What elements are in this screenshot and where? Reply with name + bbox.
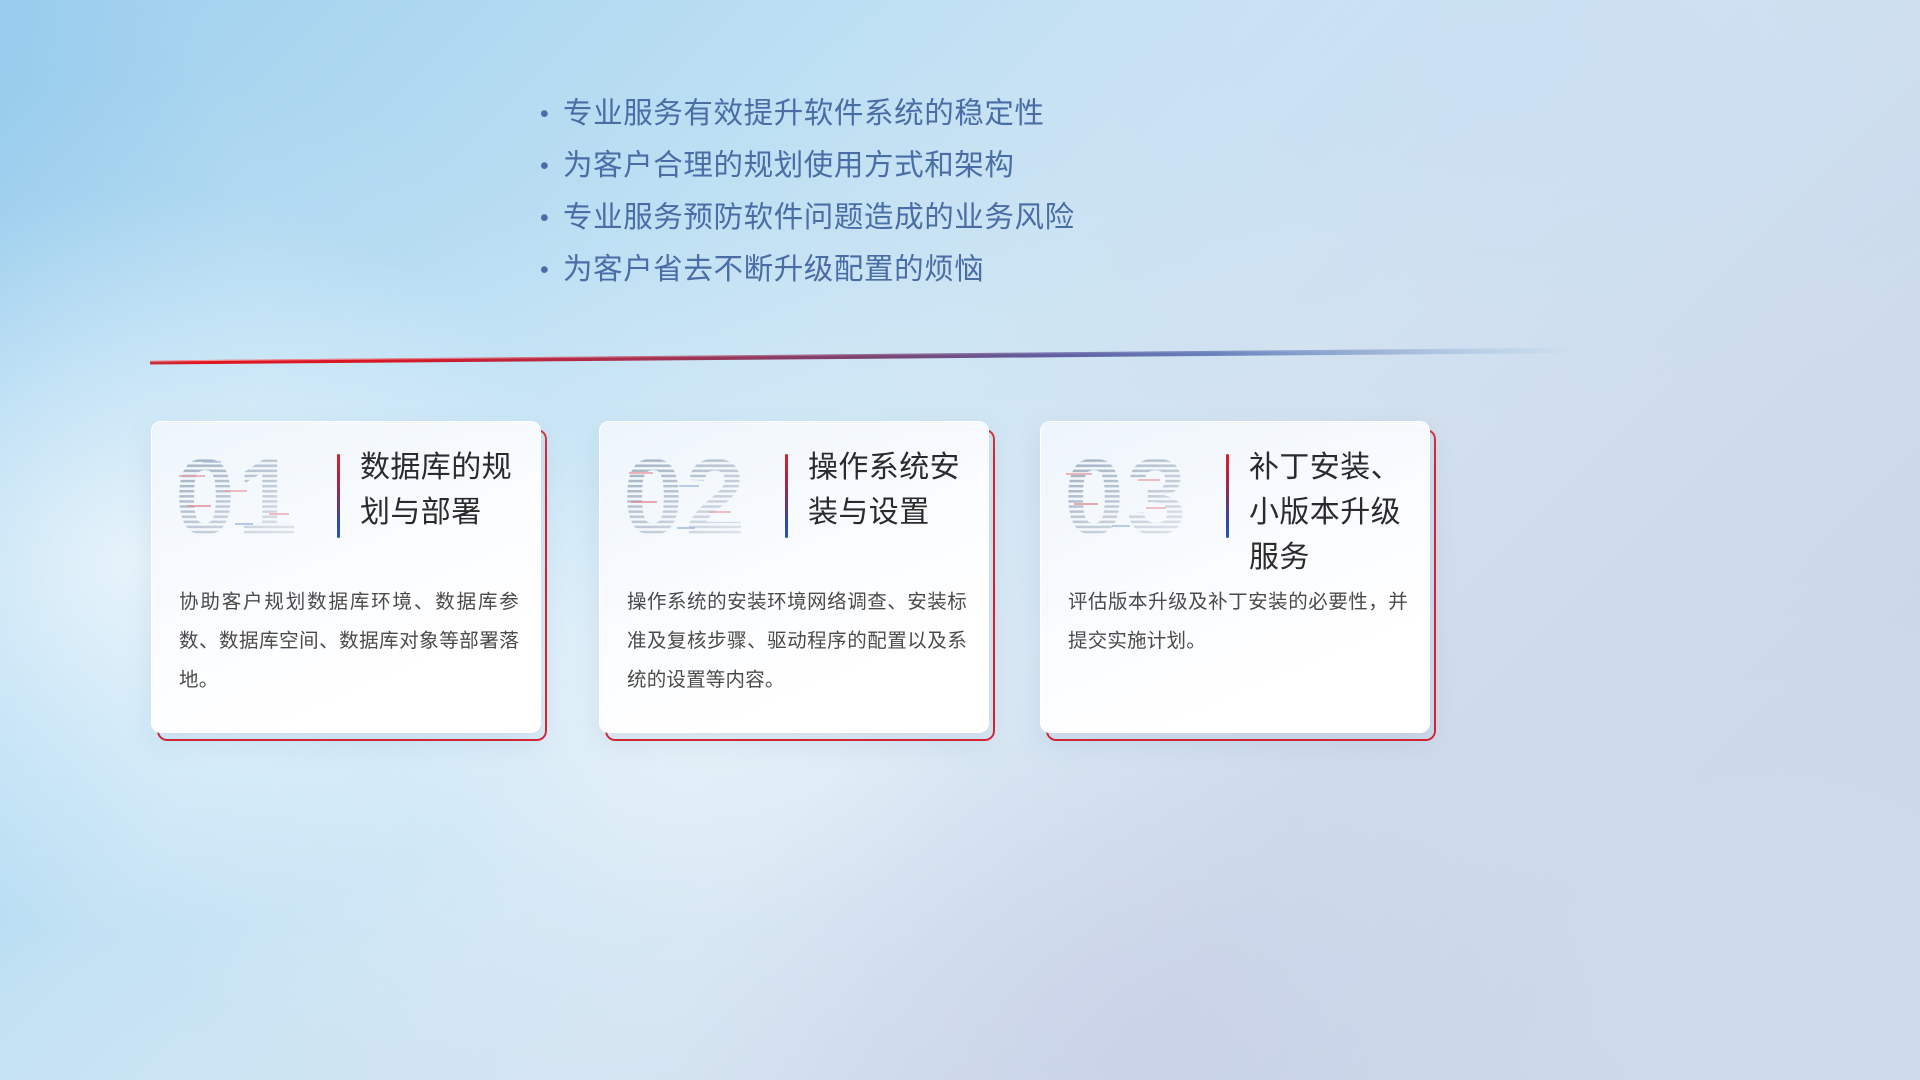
- card-accent-rule: [1226, 454, 1229, 538]
- slide-canvas: • 专业服务有效提升软件系统的稳定性 • 为客户合理的规划使用方式和架构 • 专…: [0, 0, 1920, 1080]
- bullet-item: • 为客户合理的规划使用方式和架构: [533, 140, 1293, 192]
- card-surface: 03 补丁安装、小版本升级服务 评估版本升级及补丁安装的必要性，并提交实施计划。: [1040, 421, 1430, 733]
- benefits-bullet-list: • 专业服务有效提升软件系统的稳定性 • 为客户合理的规划使用方式和架构 • 专…: [533, 88, 1293, 296]
- svg-text:02: 02: [623, 439, 747, 555]
- card-header: 01 数据库的规划与部署: [151, 421, 541, 569]
- bullet-dot-icon: •: [533, 244, 563, 296]
- card-number-watermark: 01: [173, 439, 317, 555]
- section-divider: [150, 338, 1586, 366]
- bullet-label: 为客户省去不断升级配置的烦恼: [563, 244, 984, 296]
- bullet-label: 专业服务有效提升软件系统的稳定性: [563, 88, 1045, 140]
- bullet-item: • 为客户省去不断升级配置的烦恼: [533, 244, 1293, 296]
- bullet-label: 专业服务预防软件问题造成的业务风险: [563, 192, 1075, 244]
- svg-text:01: 01: [175, 439, 299, 555]
- card-accent-rule: [785, 454, 788, 538]
- card-title: 数据库的规划与部署: [360, 445, 532, 535]
- bullet-dot-icon: •: [533, 88, 563, 140]
- card-title: 补丁安装、小版本升级服务: [1249, 445, 1421, 580]
- card-surface: 01 数据库的规划与部署 协助客户规划数据库环境、数据库参数、数据库空间、数据库…: [151, 421, 541, 733]
- bullet-dot-icon: •: [533, 192, 563, 244]
- card-title: 操作系统安装与设置: [808, 445, 980, 535]
- svg-text:03: 03: [1064, 439, 1188, 555]
- card-surface: 02 操作系统安装与设置 操作系统的安装环境网络调查、安装标准及复核步骤、驱动程…: [599, 421, 989, 733]
- service-card-list: 01 数据库的规划与部署 协助客户规划数据库环境、数据库参数、数据库空间、数据库…: [151, 421, 1771, 751]
- bullet-dot-icon: •: [533, 140, 563, 192]
- service-card[interactable]: 01 数据库的规划与部署 协助客户规划数据库环境、数据库参数、数据库空间、数据库…: [151, 421, 541, 733]
- card-number-watermark: 02: [621, 439, 765, 555]
- service-card[interactable]: 03 补丁安装、小版本升级服务 评估版本升级及补丁安装的必要性，并提交实施计划。: [1040, 421, 1430, 733]
- bullet-item: • 专业服务预防软件问题造成的业务风险: [533, 192, 1293, 244]
- card-accent-rule: [337, 454, 340, 538]
- service-card[interactable]: 02 操作系统安装与设置 操作系统的安装环境网络调查、安装标准及复核步骤、驱动程…: [599, 421, 989, 733]
- card-description: 协助客户规划数据库环境、数据库参数、数据库空间、数据库对象等部署落地。: [179, 583, 519, 700]
- card-number-watermark: 03: [1062, 439, 1206, 555]
- bullet-label: 为客户合理的规划使用方式和架构: [563, 140, 1015, 192]
- card-header: 02 操作系统安装与设置: [599, 421, 989, 569]
- card-description: 评估版本升级及补丁安装的必要性，并提交实施计划。: [1068, 583, 1408, 661]
- card-description: 操作系统的安装环境网络调查、安装标准及复核步骤、驱动程序的配置以及系统的设置等内…: [627, 583, 967, 700]
- bullet-item: • 专业服务有效提升软件系统的稳定性: [533, 88, 1293, 140]
- card-header: 03 补丁安装、小版本升级服务: [1040, 421, 1430, 569]
